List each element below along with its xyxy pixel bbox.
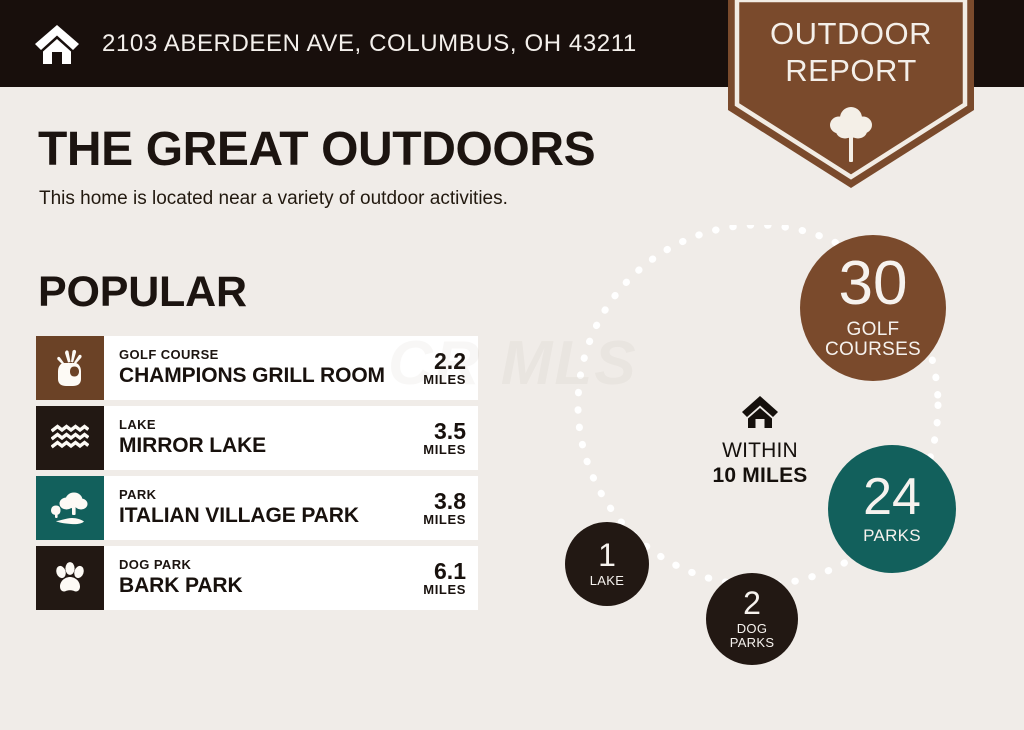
center-label-line-1: WITHIN [670,439,850,463]
row-distance: 6.1 MILES [415,559,466,597]
row-textcol: GOLF COURSE CHAMPIONS GRILL ROOM [119,348,415,387]
row-category: DOG PARK [119,558,415,572]
row-icon-tile [36,336,104,400]
row-distance-unit: MILES [423,373,466,387]
stat-label: GOLF COURSES [825,320,921,361]
stat-circle-golf-courses[interactable]: 30 GOLF COURSES [800,235,946,381]
popular-heading: POPULAR [38,268,247,317]
row-icon-tile [36,476,104,540]
stat-label-line-2: COURSES [825,340,921,361]
paw-print-icon [52,560,88,596]
row-distance-unit: MILES [423,443,466,457]
waves-icon [51,424,89,452]
stat-value: 30 [839,255,908,314]
list-item[interactable]: DOG PARK BARK PARK 6.1 MILES [36,546,478,610]
popular-list: GOLF COURSE CHAMPIONS GRILL ROOM 2.2 MIL… [36,336,478,616]
home-icon [741,395,779,429]
golf-bag-icon [53,349,87,387]
row-body: DOG PARK BARK PARK 6.1 MILES [104,546,478,610]
stat-label: LAKE [590,574,624,588]
center-label-line-2: 10 MILES [670,463,850,488]
row-name: MIRROR LAKE [119,434,415,458]
stat-label: PARKS [863,527,921,545]
stat-circle-lake[interactable]: 1 LAKE [565,522,649,606]
row-distance: 3.5 MILES [415,419,466,457]
row-distance: 2.2 MILES [415,349,466,387]
row-distance-value: 3.5 [423,419,466,443]
stat-value: 24 [863,473,921,522]
stat-value: 2 [743,588,761,618]
list-item[interactable]: LAKE MIRROR LAKE 3.5 MILES [36,406,478,470]
page-title: THE GREAT OUTDOORS [38,122,595,177]
stat-label-line-2: PARKS [730,636,775,650]
stat-circle-parks[interactable]: 24 PARKS [828,445,956,573]
row-name: ITALIAN VILLAGE PARK [119,504,415,528]
badge-line-1: OUTDOOR [728,18,974,49]
row-name: CHAMPIONS GRILL ROOM [119,364,415,388]
row-distance-unit: MILES [423,513,466,527]
diagram-center: WITHIN 10 MILES [670,395,850,488]
row-icon-tile [36,546,104,610]
within-10-miles-diagram: WITHIN 10 MILES 30 GOLF COURSES 24 PARKS… [520,225,1020,675]
row-distance: 3.8 MILES [415,489,466,527]
page-subtitle: This home is located near a variety of o… [39,188,508,210]
row-body: GOLF COURSE CHAMPIONS GRILL ROOM 2.2 MIL… [104,336,478,400]
stat-value: 1 [598,540,616,570]
stat-label-line-1: DOG [730,622,775,636]
property-address: 2103 ABERDEEN AVE, COLUMBUS, OH 43211 [102,30,637,58]
row-distance-value: 2.2 [423,349,466,373]
trees-icon [50,491,90,525]
row-icon-tile [36,406,104,470]
badge-line-2: REPORT [728,55,974,86]
badge-text: OUTDOOR REPORT [728,18,974,86]
row-body: LAKE MIRROR LAKE 3.5 MILES [104,406,478,470]
outdoor-report-badge: OUTDOOR REPORT [728,0,974,188]
row-textcol: DOG PARK BARK PARK [119,558,415,597]
stat-label: DOG PARKS [730,622,775,650]
row-textcol: PARK ITALIAN VILLAGE PARK [119,488,415,527]
row-category: PARK [119,488,415,502]
stat-circle-dog-parks[interactable]: 2 DOG PARKS [706,573,798,665]
row-body: PARK ITALIAN VILLAGE PARK 3.8 MILES [104,476,478,540]
stat-label-line-1: GOLF [825,320,921,341]
row-textcol: LAKE MIRROR LAKE [119,418,415,457]
row-category: LAKE [119,418,415,432]
home-icon [34,23,80,65]
list-item[interactable]: PARK ITALIAN VILLAGE PARK 3.8 MILES [36,476,478,540]
row-name: BARK PARK [119,574,415,598]
list-item[interactable]: GOLF COURSE CHAMPIONS GRILL ROOM 2.2 MIL… [36,336,478,400]
row-distance-value: 6.1 [423,559,466,583]
row-category: GOLF COURSE [119,348,415,362]
tree-icon [829,100,873,164]
row-distance-unit: MILES [423,583,466,597]
row-distance-value: 3.8 [423,489,466,513]
